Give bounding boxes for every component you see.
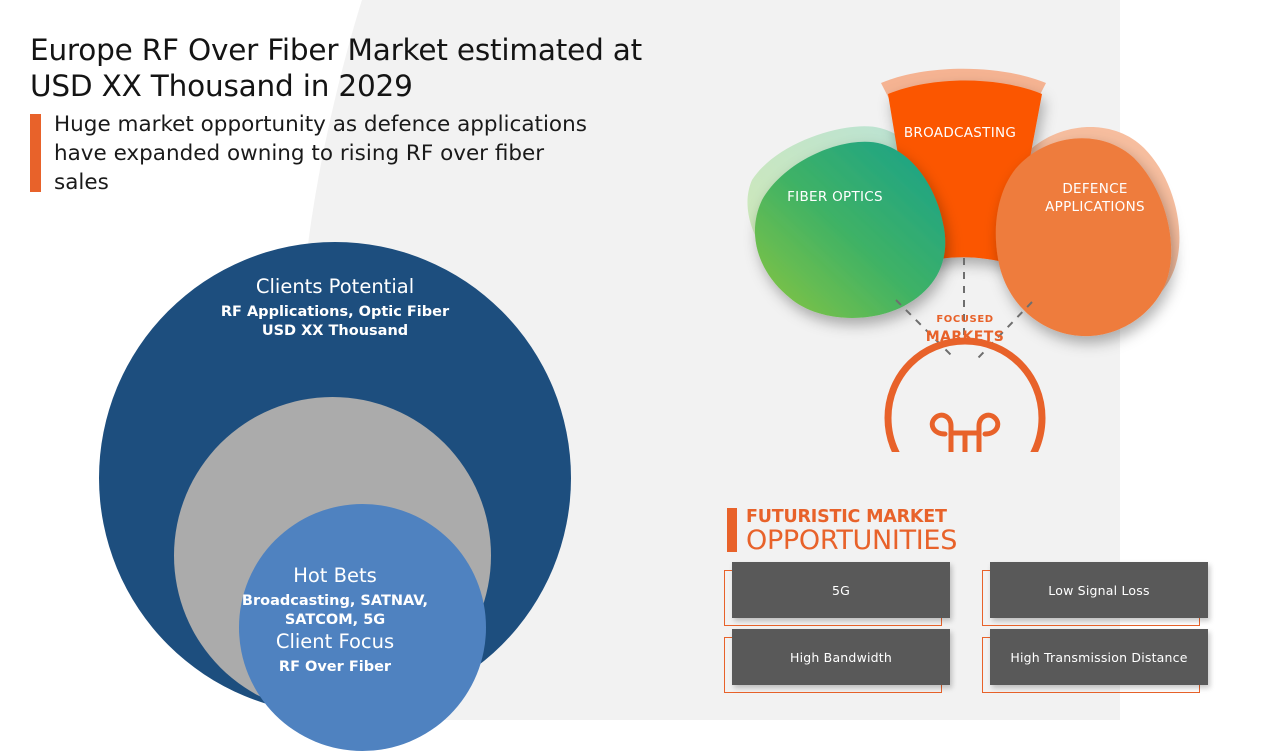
client-focus-label: Client Focus RF Over Fiber xyxy=(99,630,571,677)
opportunity-label: High Bandwidth xyxy=(790,650,892,665)
bulb-filament xyxy=(932,415,998,452)
opportunity-label: Low Signal Loss xyxy=(1048,583,1149,598)
opportunity-box: High Transmission Distance xyxy=(990,629,1208,685)
lightbulb-icon[interactable] xyxy=(888,341,1042,452)
opportunity-card-high-transmission-distance[interactable]: High Transmission Distance xyxy=(982,629,1200,685)
opportunity-label: 5G xyxy=(832,583,850,598)
client-focus-title: Client Focus xyxy=(99,630,571,654)
opportunity-box: Low Signal Loss xyxy=(990,562,1208,618)
slide-canvas: Europe RF Over Fiber Market estimated at… xyxy=(0,0,1280,720)
focused-markets-diagram: FIBER OPTICS BROADCASTING DEFENCE APPLIC… xyxy=(700,52,1240,452)
client-focus-subtext: RF Over Fiber xyxy=(99,658,571,677)
page-title: Europe RF Over Fiber Market estimated at… xyxy=(30,32,730,104)
opportunity-card-5g[interactable]: 5G xyxy=(724,562,942,618)
opportunity-box: 5G xyxy=(732,562,950,618)
opportunity-card-low-signal-loss[interactable]: Low Signal Loss xyxy=(982,562,1200,618)
headline-line-1: Europe RF Over Fiber Market estimated at xyxy=(30,33,642,67)
opportunity-grid: 5G Low Signal Loss High Bandwidth High T… xyxy=(724,562,1224,697)
hot-bets-title: Hot Bets xyxy=(99,564,571,588)
headline-line-2: USD XX Thousand in 2029 xyxy=(30,69,413,103)
clients-potential-title: Clients Potential xyxy=(99,275,571,299)
futuristic-heading: FUTURISTIC MARKET OPPORTUNITIES xyxy=(727,508,957,554)
clients-potential-sub-2: USD XX Thousand xyxy=(262,323,408,339)
hot-bets-subtext: Broadcasting, SATNAV, SATCOM, 5G xyxy=(99,592,571,630)
subheadline-line-2: have expanded owning to rising RF over f… xyxy=(54,141,544,166)
futuristic-heading-line-2: OPPORTUNITIES xyxy=(746,527,957,554)
subheadline: Huge market opportunity as defence appli… xyxy=(54,110,587,197)
subheadline-line-3: sales xyxy=(54,170,109,195)
hot-bets-label: Hot Bets Broadcasting, SATNAV, SATCOM, 5… xyxy=(99,564,571,630)
opportunity-box: High Bandwidth xyxy=(732,629,950,685)
headline-block: Europe RF Over Fiber Market estimated at… xyxy=(30,32,730,197)
accent-bar-icon xyxy=(30,114,41,192)
futuristic-accent-bar-icon xyxy=(727,508,737,552)
clients-potential-subtext: RF Applications, Optic Fiber USD XX Thou… xyxy=(99,303,571,341)
clients-potential-sub-1: RF Applications, Optic Fiber xyxy=(221,304,449,320)
opportunity-label: High Transmission Distance xyxy=(1010,650,1187,665)
subheadline-row: Huge market opportunity as defence appli… xyxy=(30,110,730,197)
hot-bets-sub-1: Broadcasting, SATNAV, xyxy=(242,593,428,609)
bulb-text-line-2: MARKETS xyxy=(900,329,1030,345)
concentric-circles-diagram: Clients Potential RF Applications, Optic… xyxy=(99,242,571,714)
subheadline-line-1: Huge market opportunity as defence appli… xyxy=(54,112,587,137)
bulb-text-line-1: FOCUSED xyxy=(900,314,1030,325)
clients-potential-label: Clients Potential RF Applications, Optic… xyxy=(99,275,571,341)
opportunity-card-high-bandwidth[interactable]: High Bandwidth xyxy=(724,629,942,685)
hot-bets-sub-2: SATCOM, 5G xyxy=(285,612,385,628)
